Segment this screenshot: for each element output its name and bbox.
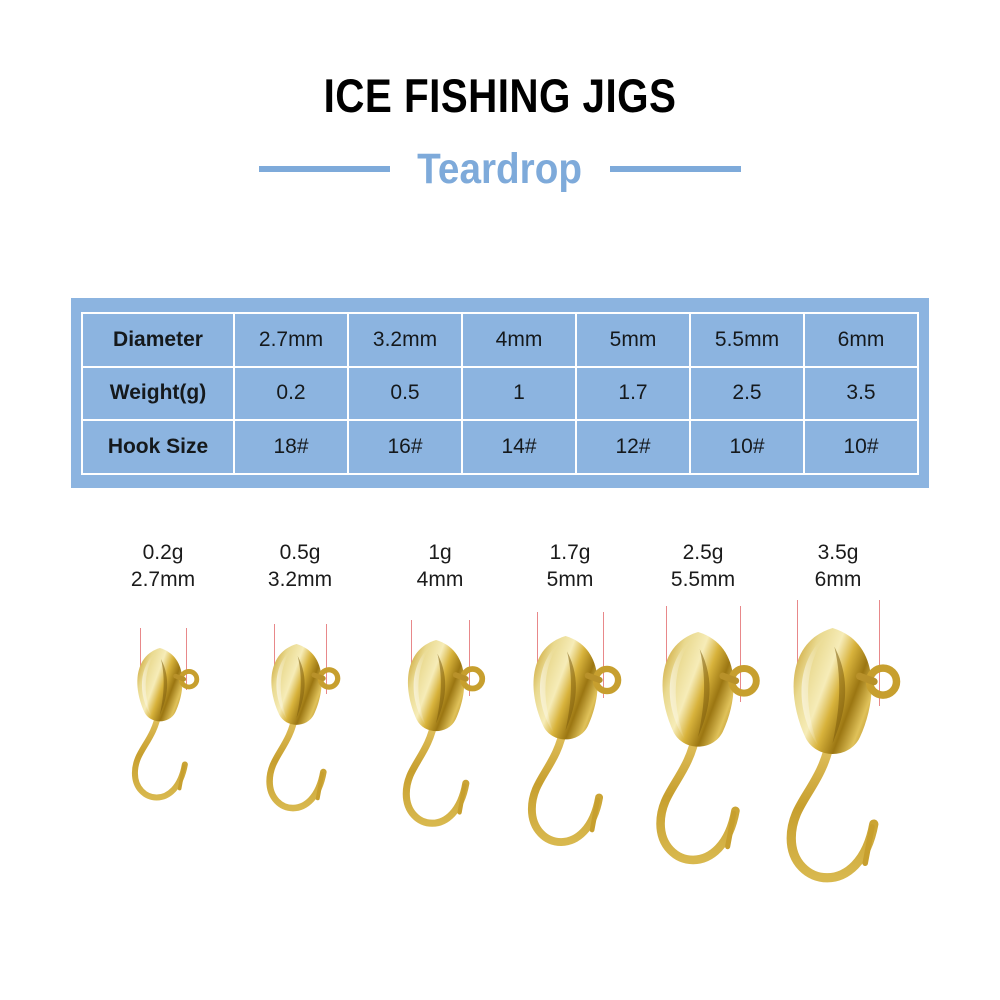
- table-cell: 10#: [804, 420, 918, 474]
- table-cell: 1.7: [576, 367, 690, 421]
- spec-table: Diameter2.7mm3.2mm4mm5mm5.5mm6mmWeight(g…: [81, 312, 919, 475]
- table-cell: 10#: [690, 420, 804, 474]
- table-row: Hook Size18#16#14#12#10#10#: [82, 420, 918, 474]
- jig-item: 3.5g6mm: [763, 540, 913, 940]
- table-cell: 12#: [576, 420, 690, 474]
- table-cell: 0.2: [234, 367, 348, 421]
- table-cell: 18#: [234, 420, 348, 474]
- table-cell: 14#: [462, 420, 576, 474]
- row-label: Hook Size: [82, 420, 234, 474]
- table-cell: 5.5mm: [690, 313, 804, 367]
- page-subtitle: Teardrop: [418, 148, 583, 191]
- jig-illustration: [225, 540, 375, 940]
- table-cell: 16#: [348, 420, 462, 474]
- accent-rule-right: [610, 166, 741, 172]
- row-label: Weight(g): [82, 367, 234, 421]
- jig-illustration: [763, 540, 913, 940]
- table-cell: 2.5: [690, 367, 804, 421]
- table-cell: 3.2mm: [348, 313, 462, 367]
- subtitle-row: Teardrop: [0, 142, 1000, 196]
- header-banner: ICE FISHING JIGS Teardrop: [0, 0, 1000, 230]
- jig-item: 1g4mm: [365, 540, 515, 940]
- jig-gallery: 0.2g2.7mm0.5g3.2mm1g4mm1.7g5mm2.5g5.5mm3…: [0, 540, 1000, 940]
- table-cell: 4mm: [462, 313, 576, 367]
- row-label: Diameter: [82, 313, 234, 367]
- accent-rule-left: [259, 166, 390, 172]
- jig-illustration: [628, 540, 778, 940]
- table-cell: 2.7mm: [234, 313, 348, 367]
- jig-illustration: [365, 540, 515, 940]
- jig-item: 2.5g5.5mm: [628, 540, 778, 940]
- table-cell: 1: [462, 367, 576, 421]
- jig-illustration: [88, 540, 238, 940]
- spec-table-frame: Diameter2.7mm3.2mm4mm5mm5.5mm6mmWeight(g…: [71, 298, 929, 488]
- page-title: ICE FISHING JIGS: [70, 72, 930, 119]
- jig-item: 1.7g5mm: [495, 540, 645, 940]
- table-cell: 6mm: [804, 313, 918, 367]
- table-row: Weight(g)0.20.511.72.53.5: [82, 367, 918, 421]
- table-cell: 5mm: [576, 313, 690, 367]
- table-cell: 3.5: [804, 367, 918, 421]
- jig-item: 0.5g3.2mm: [225, 540, 375, 940]
- table-row: Diameter2.7mm3.2mm4mm5mm5.5mm6mm: [82, 313, 918, 367]
- jig-illustration: [495, 540, 645, 940]
- jig-item: 0.2g2.7mm: [88, 540, 238, 940]
- table-cell: 0.5: [348, 367, 462, 421]
